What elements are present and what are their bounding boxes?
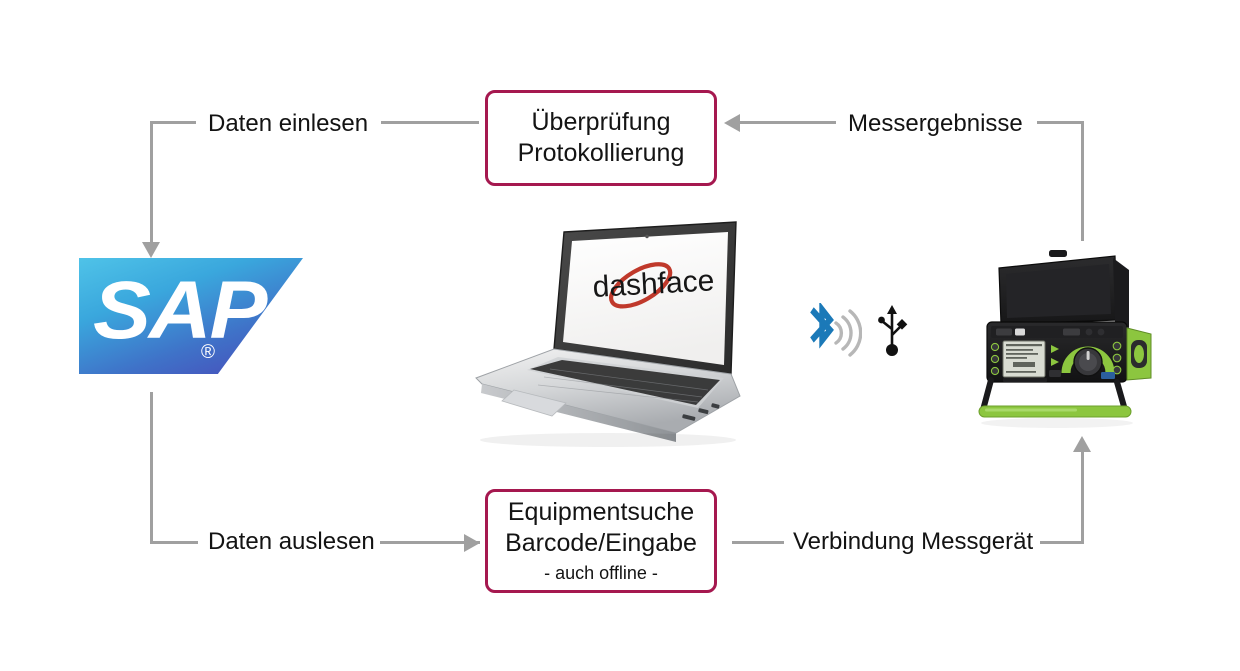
- edge-label-daten-einlesen: Daten einlesen: [208, 110, 368, 138]
- connector-top-left-to-box: [381, 121, 479, 124]
- edge-label-messergebnisse: Messergebnisse: [848, 110, 1023, 138]
- registered-trademark-mark: ®: [201, 342, 215, 364]
- connector-bottom-right-vertical: [1081, 440, 1084, 544]
- connector-top-left-vertical: [150, 121, 153, 245]
- bluetooth-icon: [800, 303, 862, 361]
- diagram-canvas: Daten einlesen Messergebnisse Daten ausl…: [0, 0, 1240, 671]
- process-box-equipmentsuche[interactable]: Equipmentsuche Barcode/Eingabe - auch of…: [485, 489, 717, 593]
- arrowhead-to-sap: [142, 242, 160, 258]
- laptop-icon: dashface: [440, 218, 770, 450]
- sap-wordmark: SAP: [93, 270, 265, 352]
- edge-label-verbindung-messgeraet: Verbindung Messgerät: [793, 528, 1033, 556]
- box-line-1: Equipmentsuche: [508, 497, 694, 528]
- box-line-2: Protokollierung: [518, 138, 685, 169]
- connector-bottom-right-corner: [1040, 541, 1084, 544]
- arrowhead-to-search-box: [464, 534, 480, 552]
- sap-logo: SAP ®: [79, 258, 303, 374]
- box-line-3-offline-note: - auch offline -: [544, 561, 658, 585]
- connector-top-right-stub: [1037, 121, 1084, 124]
- connector-top-left-stub: [150, 121, 196, 124]
- arrowhead-to-measuring-device: [1073, 436, 1091, 452]
- svg-text:dashface: dashface: [592, 264, 715, 304]
- box-line-1: Überprüfung: [532, 107, 671, 138]
- edge-label-daten-auslesen: Daten auslesen: [208, 528, 375, 556]
- connector-bottom-left-vertical: [150, 392, 153, 544]
- process-box-ueberpruefung[interactable]: Überprüfung Protokollierung: [485, 90, 717, 186]
- box-line-2: Barcode/Eingabe: [505, 528, 697, 559]
- usb-icon: [873, 303, 911, 361]
- connector-top-right-vertical: [1081, 121, 1084, 241]
- measuring-device-icon: [965, 248, 1163, 433]
- connector-bottom-right-from-box: [732, 541, 784, 544]
- arrowhead-to-check-box: [724, 114, 740, 132]
- connector-top-right-to-box: [740, 121, 836, 124]
- connector-bottom-left-corner: [150, 541, 198, 544]
